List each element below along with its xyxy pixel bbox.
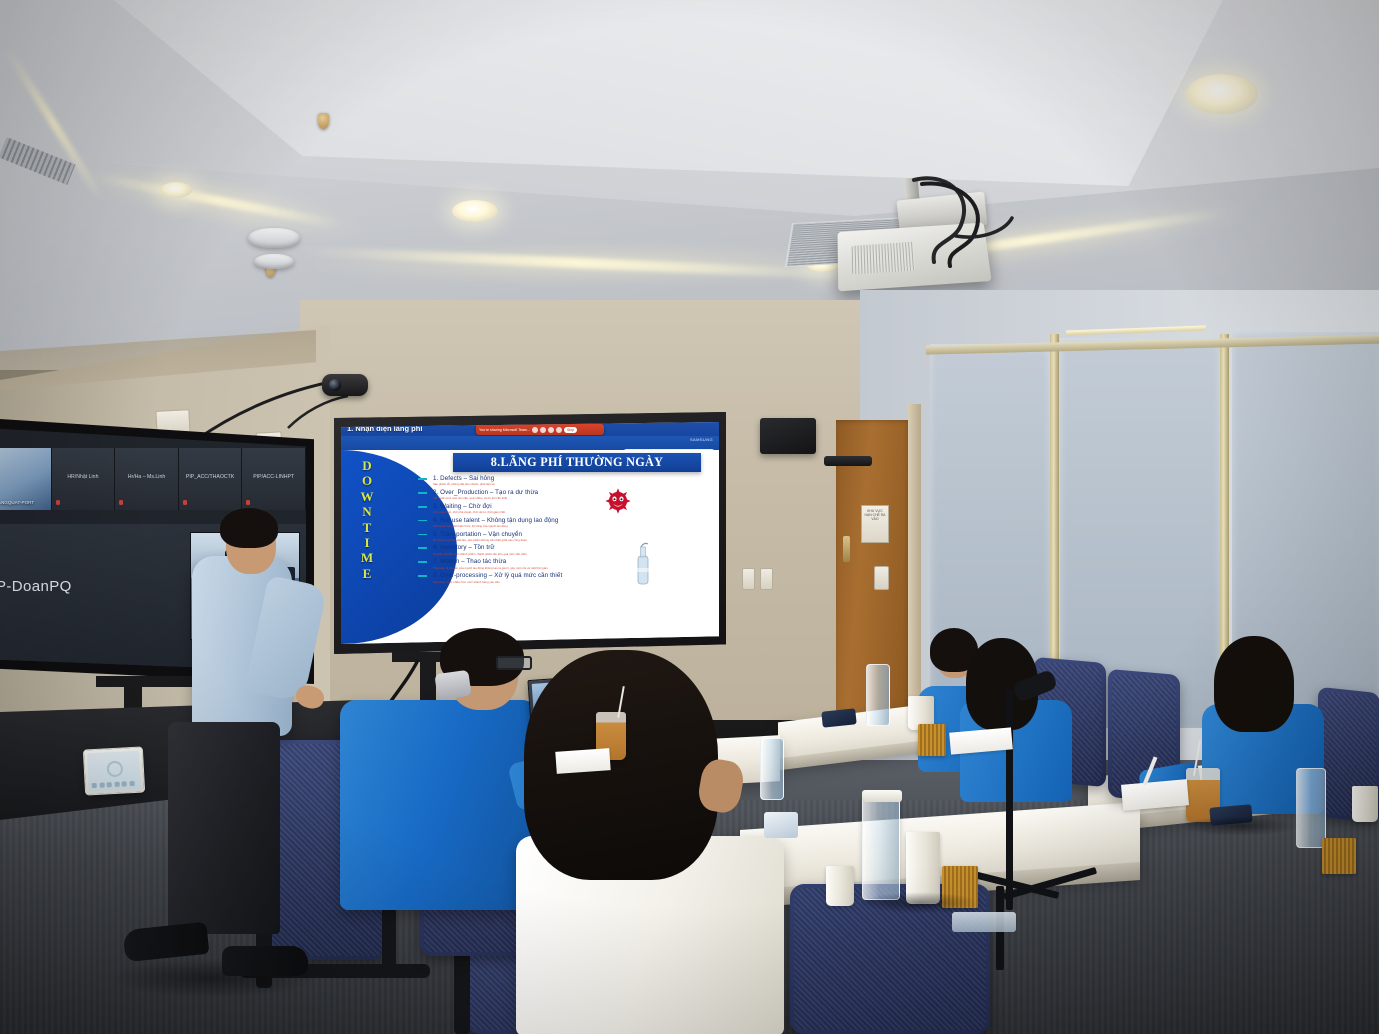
control-btn-6[interactable]	[129, 781, 134, 786]
downlight-icon-1	[1186, 74, 1258, 114]
table-shadow-right	[1180, 816, 1300, 836]
teams-sharing-toolbar[interactable]: You're sharing Microsoft Team... Stop	[476, 424, 604, 435]
paper-cup-single[interactable]	[826, 866, 854, 906]
waste-item-6-sub: Nguyên vật liệu, bán thành phẩm, thành p…	[433, 552, 703, 556]
attendee-far-right-hair	[1214, 636, 1294, 732]
camera-icon[interactable]	[540, 427, 546, 433]
pin-icon[interactable]	[532, 427, 538, 433]
control-btn-2[interactable]	[99, 783, 104, 788]
microphone-stand-pole	[1006, 690, 1013, 910]
bullet-dash-icon	[418, 520, 427, 522]
presenter-shoe-right	[222, 946, 308, 976]
control-btn-3[interactable]	[107, 782, 112, 787]
control-btn-4[interactable]	[114, 782, 119, 787]
slide-banner	[341, 436, 719, 450]
waste-list: 1. Defects – Sai hỏng Sản phẩm lỗi, khôn…	[433, 475, 703, 586]
mic-muted-icon	[56, 500, 60, 505]
woven-basket-far[interactable]	[918, 724, 946, 756]
room-control-panel[interactable]	[83, 746, 145, 795]
water-bottle-left[interactable]	[760, 738, 784, 800]
vc-tile-2[interactable]: Hr/Ha – Ms.Linh	[115, 448, 179, 510]
waste-item-3-title: 3. Waiting – Chờ đợi	[433, 503, 703, 510]
meeting-room-scene: KHU VỰC HẠN CHẾ RA VÀO 1. Nhận diện lãng…	[0, 0, 1379, 1034]
vc-tile-1[interactable]: HR/Nhật Linh	[52, 448, 116, 510]
wall-thermostat[interactable]	[874, 566, 889, 590]
waste-monster-icon	[604, 487, 632, 515]
acronym-letter-o: O	[362, 474, 372, 487]
waste-item-1: 1. Defects – Sai hỏng Sản phẩm lỗi, khôn…	[433, 475, 703, 486]
mic-muted-icon	[183, 500, 187, 505]
vc-name-0: QUANGQUAT-PORT	[0, 500, 34, 505]
samsung-logo: SAMSUNG	[690, 437, 713, 442]
door-frame	[908, 404, 921, 744]
vc-tile-3[interactable]: PIP_ACC/THAOCTK	[179, 448, 243, 510]
vc-participant-strip: QUANGQUAT-PORT HR/Nhật Linh Hr/Ha – Ms.L…	[0, 448, 306, 510]
slide-title-banner: 8.LÃNG PHÍ THƯỜNG NGÀY	[453, 453, 701, 472]
woven-basket-near[interactable]	[1322, 838, 1356, 874]
wall-switch-2[interactable]	[760, 568, 773, 590]
notepad-left[interactable]	[555, 748, 610, 774]
water-bottle-far[interactable]	[866, 664, 890, 726]
control-btn-1[interactable]	[92, 783, 97, 788]
projector-cables-icon	[900, 176, 1030, 276]
waste-item-3: 3. Waiting – Chờ đợi Chờ máy móc, chờ ph…	[433, 503, 703, 514]
acronym-letter-t: T	[363, 521, 372, 534]
ceiling-speaker-2	[254, 254, 294, 269]
door-handle-icon[interactable]	[843, 536, 850, 562]
downlight-icon-4	[452, 200, 498, 222]
acronym-letter-i: I	[364, 536, 369, 549]
bullet-dash-icon	[418, 547, 427, 549]
water-jug-lid[interactable]	[862, 790, 902, 802]
vc-main-participant-name: P-DoanPQ	[0, 578, 72, 595]
bullet-dash-icon	[418, 561, 427, 563]
waste-item-7-sub: Thao tác, di chuyển của người lao động k…	[433, 566, 703, 570]
presenter-hair	[220, 508, 278, 548]
waste-item-6: 6. Inventory – Tồn trữ Nguyên vật liệu, …	[433, 544, 703, 555]
waste-item-2-title: 2. Over_Production – Tạo ra dư thừa	[433, 489, 703, 496]
control-btn-5[interactable]	[122, 781, 127, 786]
waste-item-2: 2. Over_Production – Tạo ra dư thừa Sản …	[433, 489, 703, 500]
slide-bottle-illustration	[631, 542, 655, 590]
attendee-white-hair	[524, 650, 718, 880]
candy-tray[interactable]	[952, 912, 1016, 932]
left-display-mount-bar	[96, 676, 196, 687]
conference-camera	[322, 374, 368, 396]
teams-sharing-label: You're sharing Microsoft Team...	[479, 428, 530, 432]
motion-sensor	[824, 456, 872, 466]
ceiling-speaker-1	[248, 228, 300, 248]
bullet-dash-icon	[418, 506, 427, 508]
waste-item-1-sub: Sản phẩm lỗi, không đạt tiêu chuẩn, phải…	[433, 482, 703, 486]
camera-lens-icon	[329, 379, 341, 391]
acronym-letter-e: E	[363, 567, 372, 580]
attendee-laptop-glasses-icon	[496, 656, 532, 670]
stop-sharing-button[interactable]: Stop	[564, 427, 577, 433]
bullet-dash-icon	[418, 575, 427, 577]
vc-tile-0[interactable]: QUANGQUAT-PORT	[0, 448, 52, 510]
waste-item-4-title: 4. Not use talent – Không tận dụng lao đ…	[433, 517, 703, 524]
acronym-letter-w: W	[361, 490, 374, 503]
waste-item-5-sub: Di chuyển nguyên vật liệu, sản phẩm khôn…	[433, 538, 703, 542]
door-notice-sign: KHU VỰC HẠN CHẾ RA VÀO	[861, 505, 889, 543]
waste-item-7-title: 7. Motion – Thao tác thừa	[433, 558, 703, 565]
slide-content: 1. Nhận diện lãng phí You're sharing Mic…	[341, 422, 719, 644]
vc-name-3: PIP_ACC/THAOCTK	[186, 474, 234, 480]
mic-muted-icon	[119, 500, 123, 505]
mic-muted-icon	[246, 500, 250, 505]
slide-title-text: 8.LÃNG PHÍ THƯỜNG NGÀY	[491, 455, 664, 470]
table-shadow-center	[860, 892, 980, 914]
wall-switch-1[interactable]	[742, 568, 755, 590]
slide-body: D O W N T I M E 8.LÃNG PHÍ THƯỜNG NGÀY 1…	[341, 450, 719, 644]
waste-item-6-title: 6. Inventory – Tồn trữ	[433, 544, 703, 551]
present-icon[interactable]	[556, 427, 562, 433]
bullet-dash-icon	[418, 492, 427, 494]
paper-cup-near[interactable]	[1352, 786, 1378, 822]
attendee-lanyard-badge	[434, 670, 471, 700]
waste-item-2-sub: Sản xuất vượt quá nhu cầu, quá nhiều, tr…	[433, 496, 703, 500]
waste-item-1-title: 1. Defects – Sai hỏng	[433, 475, 703, 482]
bullet-dash-icon	[418, 478, 427, 480]
waste-item-8-title: 8. Over-processing – Xử lý quá mức cần t…	[433, 572, 703, 579]
vc-name-2: Hr/Ha – Ms.Linh	[128, 474, 165, 480]
vc-name-4: PIP/ACC-LINHPT	[253, 474, 294, 480]
waste-item-4-sub: Không sử dụng hết kiến thức, kỹ năng của…	[433, 524, 703, 528]
waste-item-5: 5. Transportation – Vận chuyển Di chuyển…	[433, 531, 703, 542]
vc-name-1: HR/Nhật Linh	[67, 474, 98, 480]
water-jug[interactable]	[862, 796, 900, 900]
presentation-display[interactable]: 1. Nhận diện lãng phí You're sharing Mic…	[334, 412, 726, 654]
downtime-acronym: D O W N T I M E	[354, 459, 380, 580]
waste-item-7: 7. Motion – Thao tác thừa Thao tác, di c…	[433, 558, 703, 569]
waste-item-3-sub: Chờ máy móc, chờ phê duyệt, chờ vật tư, …	[433, 510, 703, 514]
waste-item-8: 8. Over-processing – Xử lý quá mức cần t…	[433, 572, 703, 583]
downlight-icon-5	[160, 182, 192, 198]
bullet-dash-icon	[418, 534, 427, 536]
acronym-letter-d: D	[362, 459, 371, 472]
sprinkler-icon-1	[318, 113, 329, 129]
vc-tile-4[interactable]: PIP/ACC-LINHPT	[242, 448, 306, 510]
presenter-trousers	[168, 722, 280, 934]
acronym-letter-m: M	[361, 551, 373, 564]
waste-item-5-title: 5. Transportation – Vận chuyển	[433, 531, 703, 538]
wall-speaker	[760, 418, 816, 454]
waste-item-8-sub: Gia công, xử lý nhiều hơn mức khách hàng…	[433, 580, 703, 584]
attendee-laptop-polo	[340, 700, 538, 910]
tissue-pack[interactable]	[764, 812, 798, 838]
water-bottle-near[interactable]	[1296, 768, 1326, 848]
microphone-icon[interactable]	[548, 427, 554, 433]
waste-item-4: 4. Not use talent – Không tận dụng lao đ…	[433, 517, 703, 528]
acronym-letter-n: N	[362, 505, 371, 518]
